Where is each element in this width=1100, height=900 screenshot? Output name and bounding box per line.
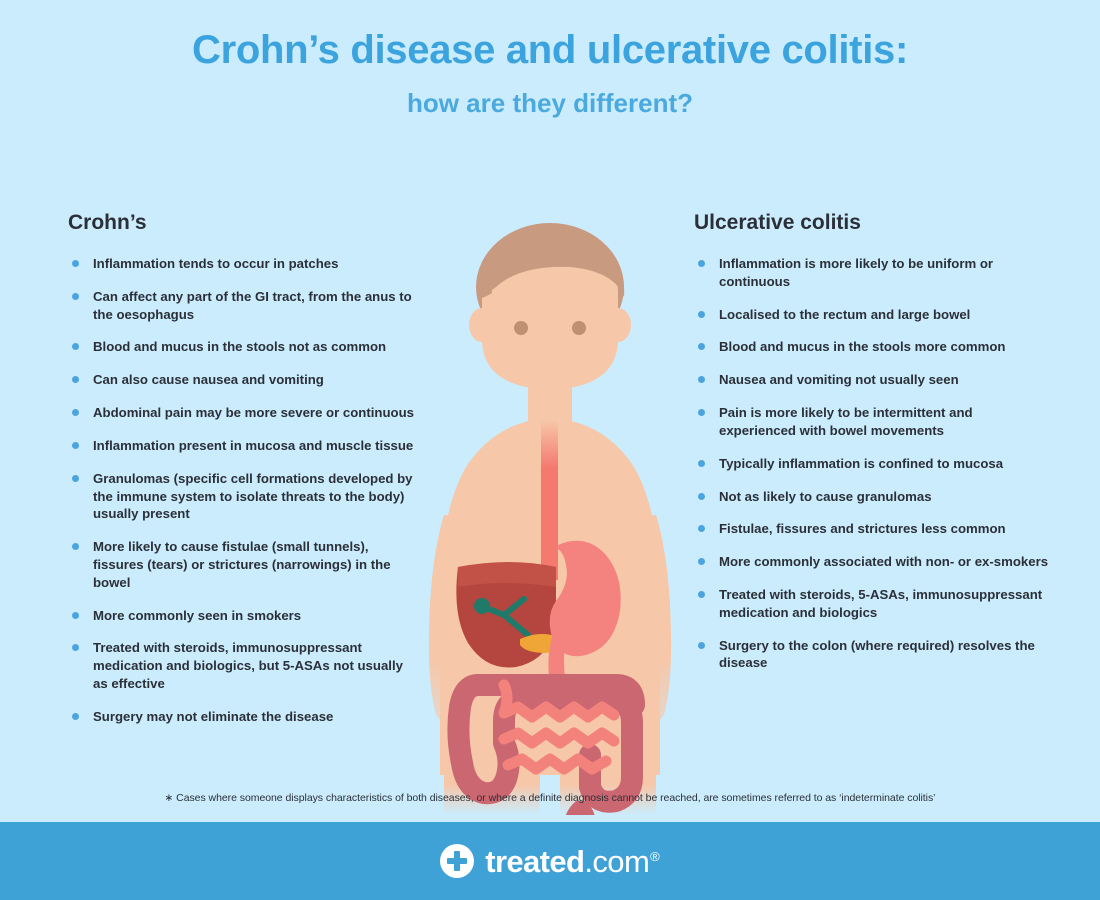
bullet-icon xyxy=(698,311,705,318)
bullet-icon xyxy=(698,260,705,267)
list-item: Fistulae, fissures and strictures less c… xyxy=(694,520,1049,538)
ulcerative-colitis-point-list: Inflammation is more likely to be unifor… xyxy=(694,255,1049,672)
medical-cross-icon xyxy=(440,844,474,878)
bullet-icon xyxy=(698,460,705,467)
list-item: Treated with steroids, immunosuppressant… xyxy=(68,639,418,692)
column-crohns: Crohn’s Inflammation tends to occur in p… xyxy=(68,212,418,741)
list-item-text: Can also cause nausea and vomiting xyxy=(93,372,324,387)
bullet-icon xyxy=(698,409,705,416)
list-item-text: Pain is more likely to be intermittent a… xyxy=(719,405,973,438)
list-item-text: Inflammation present in mucosa and muscl… xyxy=(93,438,413,453)
bullet-icon xyxy=(698,558,705,565)
crohns-point-list: Inflammation tends to occur in patches C… xyxy=(68,255,418,726)
list-item: Surgery to the colon (where required) re… xyxy=(694,637,1049,673)
list-item: More commonly seen in smokers xyxy=(68,607,418,625)
logo-domain-text: .com xyxy=(584,846,649,877)
list-item-text: Typically inflammation is confined to mu… xyxy=(719,456,1003,471)
oesophagus-icon xyxy=(541,420,558,580)
bullet-icon xyxy=(72,644,79,651)
list-item-text: Inflammation tends to occur in patches xyxy=(93,256,338,271)
list-item: Treated with steroids, 5-ASAs, immunosup… xyxy=(694,586,1049,622)
bullet-icon xyxy=(698,525,705,532)
list-item: Nausea and vomiting not usually seen xyxy=(694,371,1049,389)
list-item: Blood and mucus in the stools not as com… xyxy=(68,338,418,356)
list-item-text: More likely to cause fistulae (small tun… xyxy=(93,539,391,590)
infographic-page: Crohn’s disease and ulcerative colitis: … xyxy=(0,0,1100,900)
footer-bar: treated .com ® xyxy=(0,822,1100,900)
bullet-icon xyxy=(72,543,79,550)
list-item-text: Surgery to the colon (where required) re… xyxy=(719,638,1035,671)
list-item: Localised to the rectum and large bowel xyxy=(694,306,1049,324)
list-item-text: Abdominal pain may be more severe or con… xyxy=(93,405,414,420)
list-item-text: Treated with steroids, 5-ASAs, immunosup… xyxy=(719,587,1042,620)
bullet-icon xyxy=(72,343,79,350)
list-item: Inflammation present in mucosa and muscl… xyxy=(68,437,418,455)
bullet-icon xyxy=(698,642,705,649)
human-body-illustration xyxy=(400,215,700,815)
list-item-text: Granulomas (specific cell formations dev… xyxy=(93,471,413,522)
bullet-icon xyxy=(72,376,79,383)
bullet-icon xyxy=(72,409,79,416)
list-item-text: Treated with steroids, immunosuppressant… xyxy=(93,640,403,691)
list-item-text: Can affect any part of the GI tract, fro… xyxy=(93,289,412,322)
bullet-icon xyxy=(698,591,705,598)
list-item-text: Blood and mucus in the stools more commo… xyxy=(719,339,1006,354)
list-item: Inflammation tends to occur in patches xyxy=(68,255,418,273)
list-item-text: Nausea and vomiting not usually seen xyxy=(719,372,959,387)
crohns-heading: Crohn’s xyxy=(68,212,418,233)
list-item: Abdominal pain may be more severe or con… xyxy=(68,404,418,422)
bullet-icon xyxy=(698,493,705,500)
list-item: Inflammation is more likely to be unifor… xyxy=(694,255,1049,291)
bullet-icon xyxy=(72,442,79,449)
eye-right-icon xyxy=(572,321,586,335)
list-item-text: Fistulae, fissures and strictures less c… xyxy=(719,521,1006,536)
list-item-text: More commonly seen in smokers xyxy=(93,608,301,623)
treated-logo[interactable]: treated .com ® xyxy=(440,844,660,878)
header: Crohn’s disease and ulcerative colitis: … xyxy=(0,0,1100,116)
list-item-text: Localised to the rectum and large bowel xyxy=(719,307,970,322)
bullet-icon xyxy=(72,475,79,482)
footnote: ∗ Cases where someone displays character… xyxy=(0,792,1100,804)
list-item-text: Blood and mucus in the stools not as com… xyxy=(93,339,386,354)
bullet-icon xyxy=(698,343,705,350)
bullet-icon xyxy=(72,260,79,267)
column-ulcerative-colitis: Ulcerative colitis Inflammation is more … xyxy=(694,212,1049,687)
list-item: Can affect any part of the GI tract, fro… xyxy=(68,288,418,324)
page-title: Crohn’s disease and ulcerative colitis: xyxy=(0,30,1100,70)
logo-brand-text: treated xyxy=(485,846,584,877)
bullet-icon xyxy=(72,612,79,619)
list-item-text: Not as likely to cause granulomas xyxy=(719,489,932,504)
list-item-text: Inflammation is more likely to be unifor… xyxy=(719,256,993,289)
list-item: Blood and mucus in the stools more commo… xyxy=(694,338,1049,356)
list-item: Granulomas (specific cell formations dev… xyxy=(68,470,418,523)
list-item: More likely to cause fistulae (small tun… xyxy=(68,538,418,591)
bullet-icon xyxy=(72,713,79,720)
bullet-icon xyxy=(698,376,705,383)
page-subtitle: how are they different? xyxy=(0,90,1100,116)
registered-trademark-icon: ® xyxy=(650,850,660,863)
list-item: Surgery may not eliminate the disease xyxy=(68,708,418,726)
list-item: More commonly associated with non- or ex… xyxy=(694,553,1049,571)
list-item: Pain is more likely to be intermittent a… xyxy=(694,404,1049,440)
list-item-text: More commonly associated with non- or ex… xyxy=(719,554,1048,569)
ulcerative-colitis-heading: Ulcerative colitis xyxy=(694,212,1049,233)
list-item: Typically inflammation is confined to mu… xyxy=(694,455,1049,473)
bullet-icon xyxy=(72,293,79,300)
eye-left-icon xyxy=(514,321,528,335)
neck-icon xyxy=(528,378,572,424)
list-item: Not as likely to cause granulomas xyxy=(694,488,1049,506)
list-item: Can also cause nausea and vomiting xyxy=(68,371,418,389)
list-item-text: Surgery may not eliminate the disease xyxy=(93,709,333,724)
